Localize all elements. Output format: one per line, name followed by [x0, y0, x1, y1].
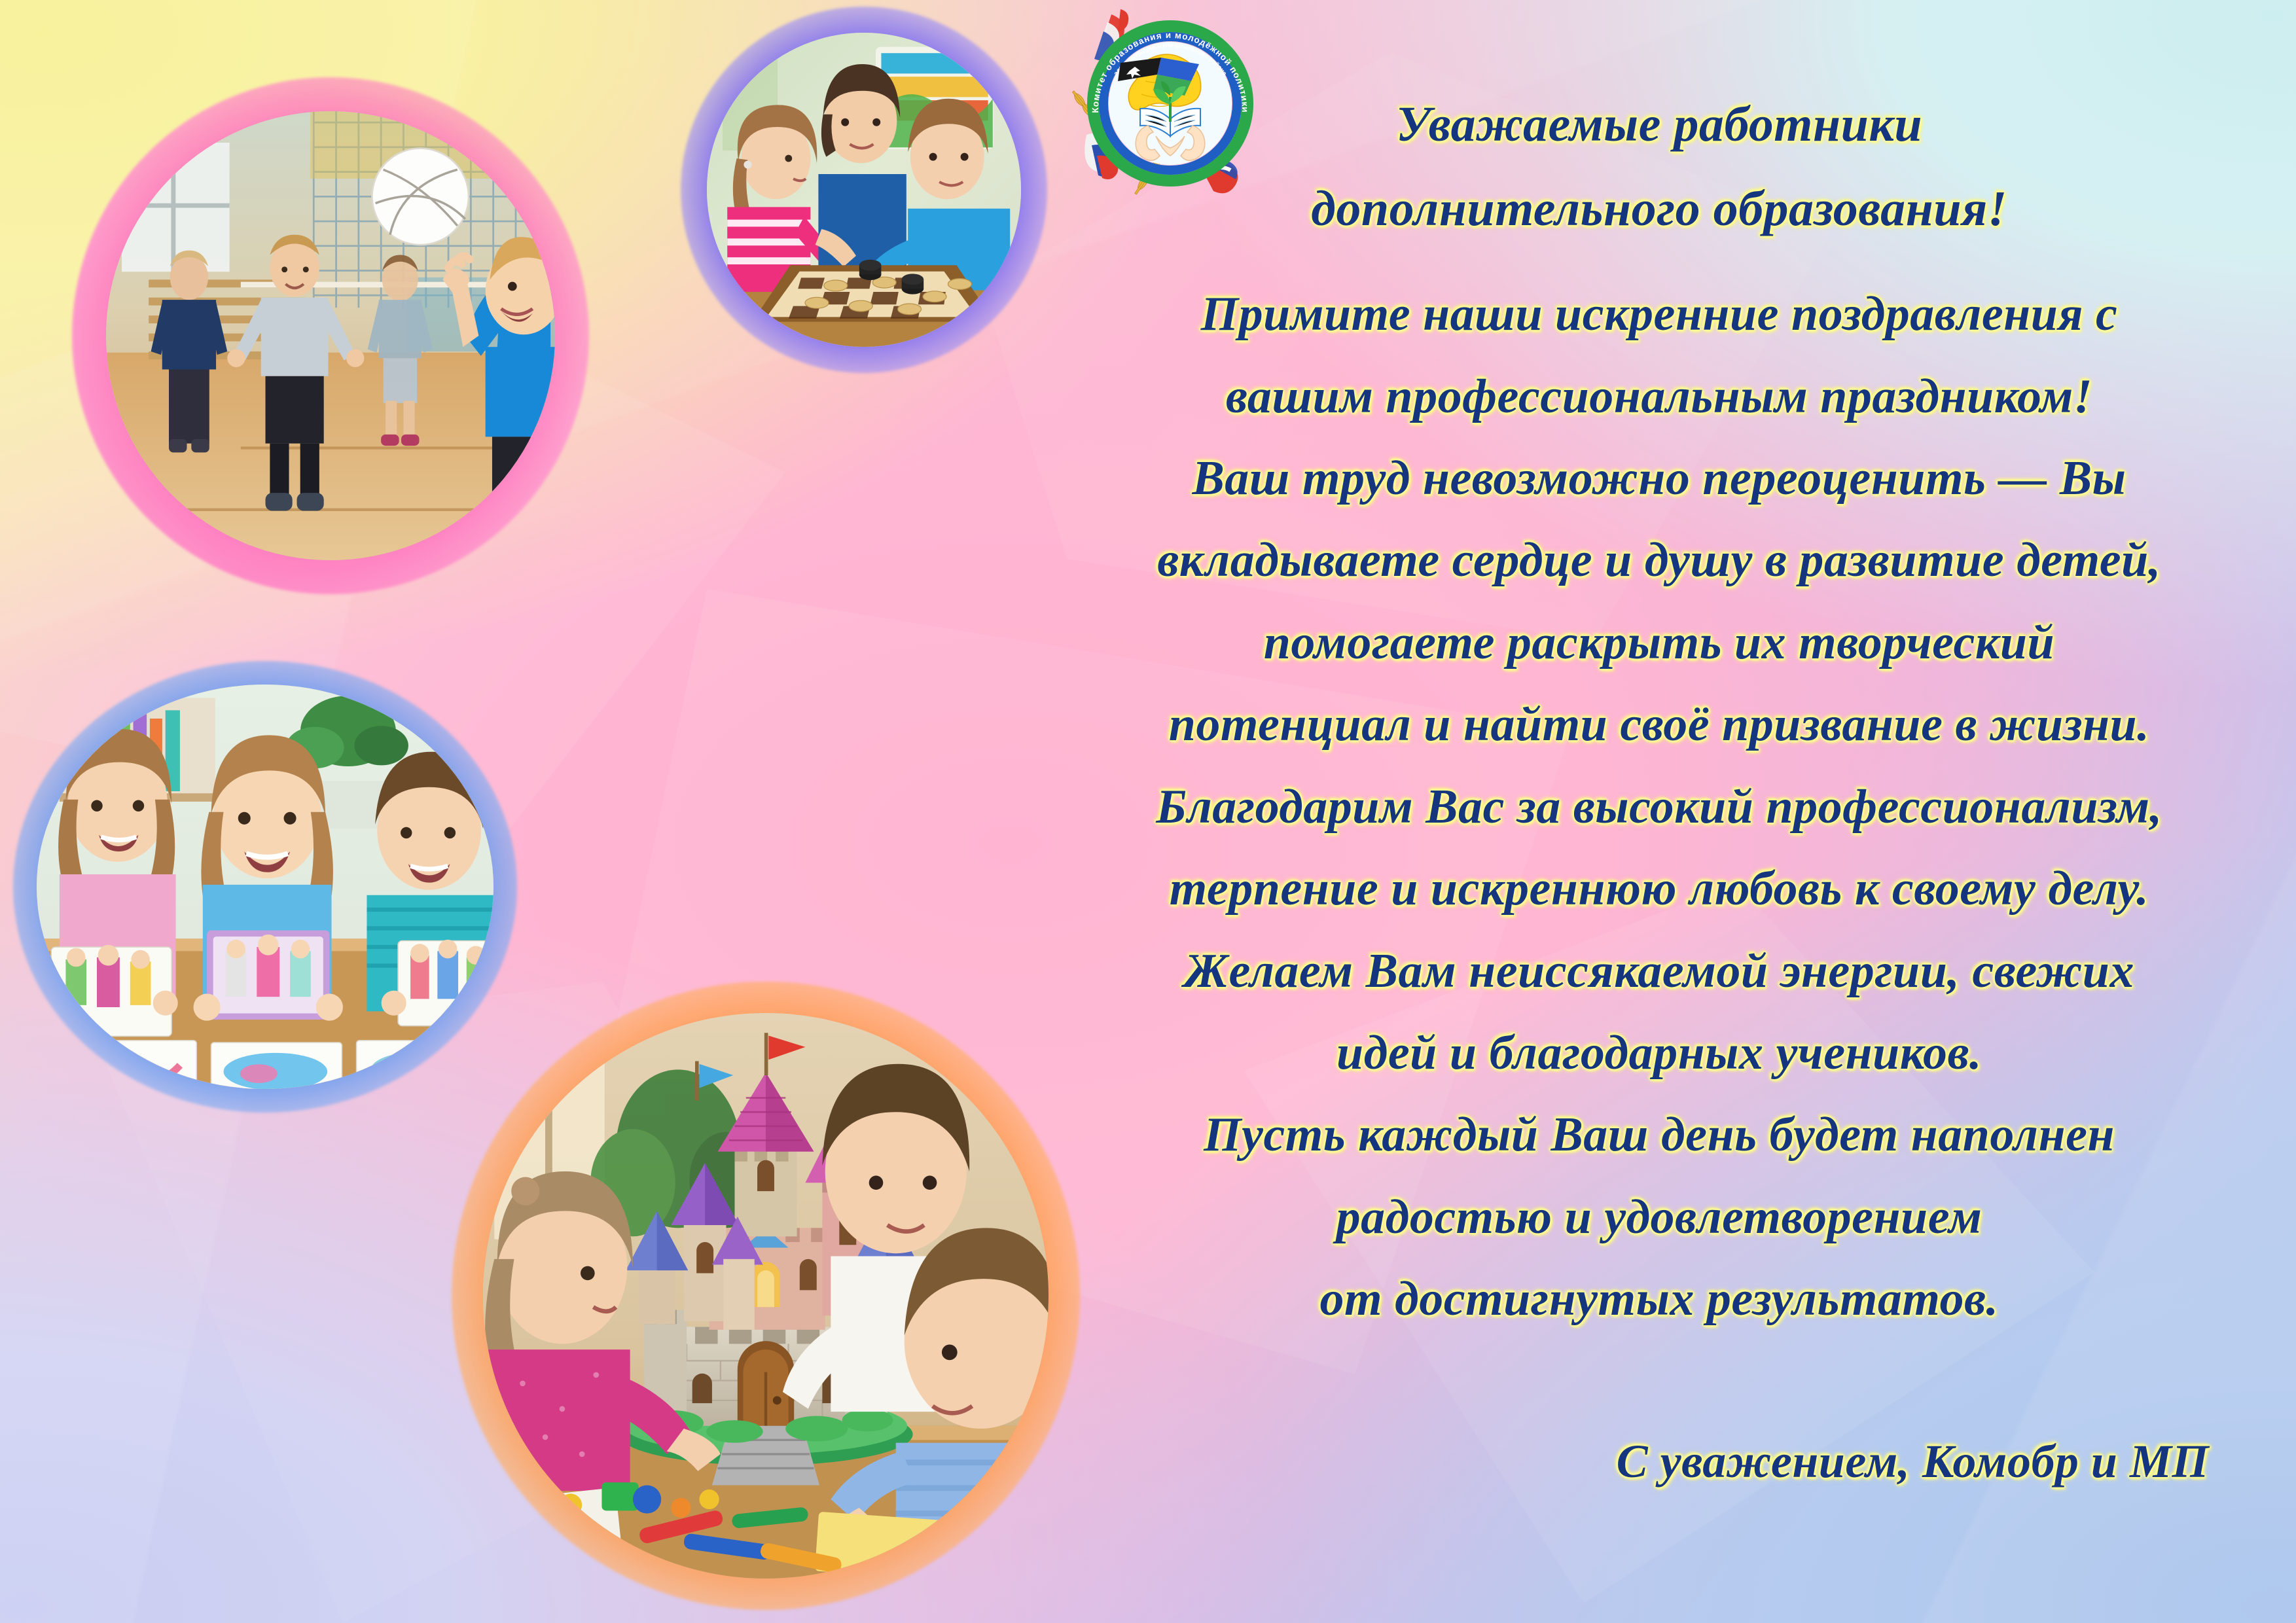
message-line: идей и благодарных учеников.	[1037, 1027, 2281, 1079]
message-line: Желаем Вам неиссякаемой энергии, свежих	[1037, 946, 2281, 997]
congratulation-message: Уважаемые работники дополнительного обра…	[1037, 98, 2281, 1590]
drawings-photo-image	[37, 685, 493, 1089]
message-heading-line-1: Уважаемые работники	[1037, 98, 2281, 151]
message-line: радостью и удовлетворением	[1037, 1192, 2281, 1243]
checkers-photo	[681, 7, 1047, 373]
message-line: терпение и искреннюю любовь к своему дел…	[1037, 863, 2281, 914]
message-line: потенциал и найти своё призвание в жизни…	[1037, 699, 2281, 750]
volleyball-photo	[72, 77, 589, 594]
message-heading-line-2: дополнительного образования!	[1037, 183, 2281, 236]
message-line: вашим профессиональным праздником!	[1037, 371, 2281, 422]
message-signature: С уважением, Комобр и МП	[1037, 1436, 2281, 1486]
message-line: вкладываете сердце и душу в развитие дет…	[1037, 535, 2281, 586]
message-line: Благодарим Вас за высокий профессионализ…	[1037, 781, 2281, 832]
volleyball-photo-image	[106, 111, 555, 560]
drawings-photo	[13, 661, 517, 1113]
message-line: Примите наши искренние поздравления с	[1037, 289, 2281, 340]
castle-craft-photo	[452, 982, 1080, 1610]
message-line: помогаете раскрыть их творческий	[1037, 617, 2281, 668]
message-line: от достигнутых результатов.	[1037, 1274, 2281, 1325]
message-line: Пусть каждый Ваш день будет наполнен	[1037, 1109, 2281, 1160]
castle-craft-photo-image	[483, 1013, 1049, 1578]
checkers-photo-image	[707, 33, 1021, 347]
message-line: Ваш труд невозможно переоценить — Вы	[1037, 453, 2281, 504]
